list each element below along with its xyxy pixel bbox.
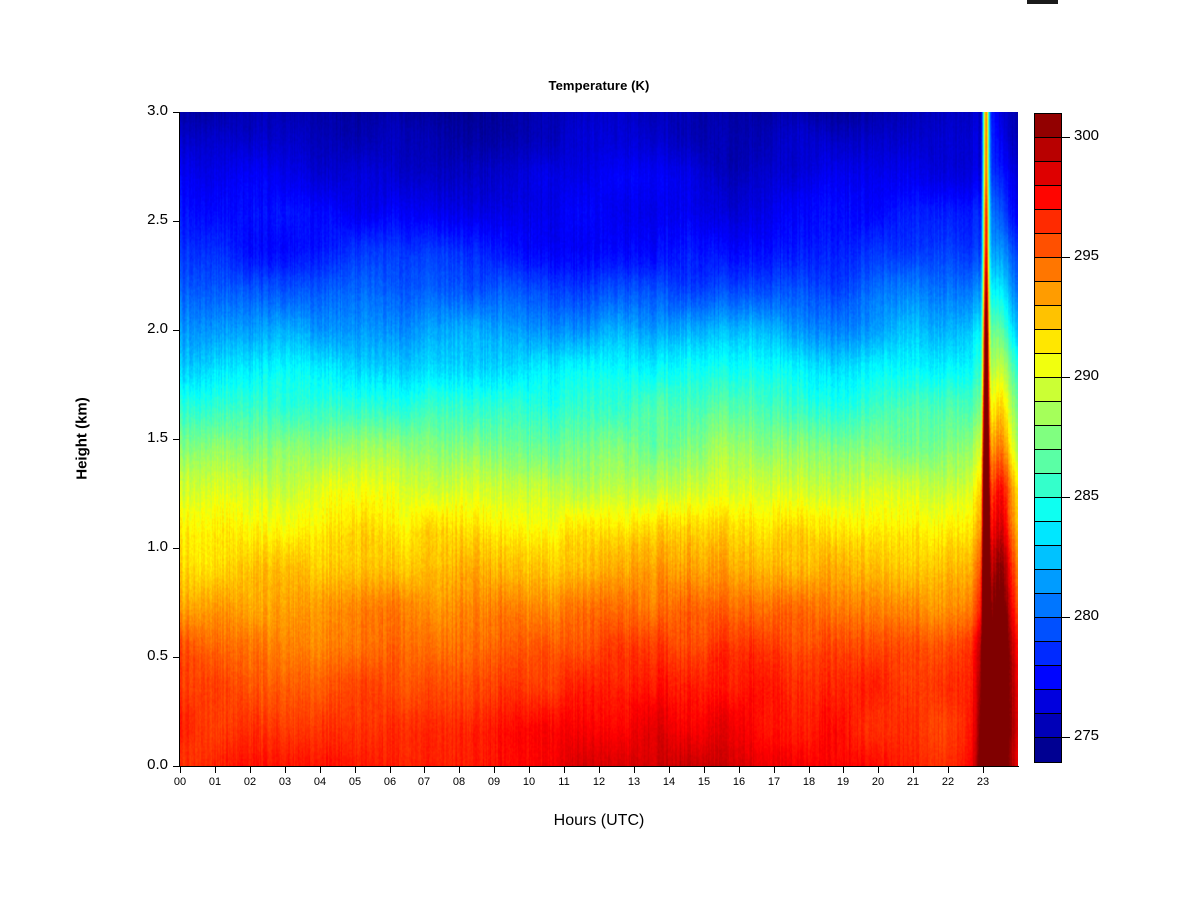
x-tick-label: 00	[160, 776, 200, 788]
colorbar-tick	[1062, 497, 1070, 498]
colorbar-tick	[1062, 137, 1070, 138]
x-tick	[704, 767, 705, 773]
x-tick	[355, 767, 356, 773]
y-tick-label: 1.0	[114, 538, 168, 555]
x-axis-title: Hours (UTC)	[180, 812, 1018, 830]
x-tick-label: 20	[858, 776, 898, 788]
chart-canvas: Temperature (K) 0.00.51.01.52.02.53.0 00…	[0, 0, 1200, 900]
x-tick-label: 09	[474, 776, 514, 788]
heatmap-canvas	[180, 112, 1018, 766]
y-tick	[173, 330, 179, 331]
y-tick	[173, 221, 179, 222]
x-tick-label: 22	[928, 776, 968, 788]
x-tick-label: 19	[823, 776, 863, 788]
colorbar-block	[1035, 138, 1061, 162]
colorbar-block	[1035, 450, 1061, 474]
x-tick	[739, 767, 740, 773]
x-tick	[599, 767, 600, 773]
x-tick-label: 23	[963, 776, 1003, 788]
colorbar-block	[1035, 258, 1061, 282]
y-tick	[173, 439, 179, 440]
y-tick-label: 1.5	[114, 429, 168, 446]
y-axis-title: Height (km)	[74, 339, 91, 539]
colorbar-tick	[1062, 737, 1070, 738]
x-tick-label: 07	[404, 776, 444, 788]
y-tick-label: 2.5	[114, 211, 168, 228]
x-tick	[320, 767, 321, 773]
colorbar-block	[1035, 570, 1061, 594]
top-bar-artifact	[1027, 0, 1058, 4]
x-tick	[494, 767, 495, 773]
y-axis-tick-labels: 0.00.51.01.52.02.53.0	[110, 0, 168, 900]
colorbar-block	[1035, 642, 1061, 666]
y-tick	[173, 112, 179, 113]
y-tick-label: 0.0	[114, 756, 168, 773]
y-tick-label: 3.0	[114, 102, 168, 119]
x-tick	[529, 767, 530, 773]
x-tick	[285, 767, 286, 773]
x-tick-label: 17	[754, 776, 794, 788]
x-tick-label: 02	[230, 776, 270, 788]
x-tick	[669, 767, 670, 773]
colorbar-tick-label: 300	[1074, 127, 1099, 144]
colorbar-block	[1035, 282, 1061, 306]
x-tick-label: 11	[544, 776, 584, 788]
x-tick-label: 21	[893, 776, 933, 788]
x-tick-label: 16	[719, 776, 759, 788]
y-tick-label: 2.0	[114, 320, 168, 337]
x-tick	[459, 767, 460, 773]
x-tick	[983, 767, 984, 773]
y-axis-line	[179, 112, 180, 767]
colorbar	[1034, 113, 1062, 763]
colorbar-block	[1035, 114, 1061, 138]
colorbar-tick-label: 285	[1074, 487, 1099, 504]
colorbar-block	[1035, 210, 1061, 234]
x-tick	[774, 767, 775, 773]
page-title: Temperature (K)	[180, 78, 1018, 93]
x-tick-label: 14	[649, 776, 689, 788]
x-tick-label: 05	[335, 776, 375, 788]
colorbar-block	[1035, 162, 1061, 186]
x-tick-label: 12	[579, 776, 619, 788]
colorbar-block	[1035, 618, 1061, 642]
colorbar-block	[1035, 306, 1061, 330]
colorbar-block	[1035, 426, 1061, 450]
colorbar-tick	[1062, 257, 1070, 258]
colorbar-block	[1035, 666, 1061, 690]
colorbar-block	[1035, 690, 1061, 714]
x-tick	[809, 767, 810, 773]
x-tick	[564, 767, 565, 773]
colorbar-block	[1035, 714, 1061, 738]
colorbar-tick	[1062, 617, 1070, 618]
x-tick-label: 13	[614, 776, 654, 788]
colorbar-block	[1035, 354, 1061, 378]
x-tick	[843, 767, 844, 773]
x-tick	[948, 767, 949, 773]
x-tick	[250, 767, 251, 773]
colorbar-block	[1035, 546, 1061, 570]
x-tick-label: 08	[439, 776, 479, 788]
colorbar-block	[1035, 234, 1061, 258]
x-tick-label: 01	[195, 776, 235, 788]
x-tick	[215, 767, 216, 773]
colorbar-block	[1035, 186, 1061, 210]
colorbar-tick-label: 280	[1074, 607, 1099, 624]
colorbar-block	[1035, 522, 1061, 546]
colorbar-block	[1035, 594, 1061, 618]
colorbar-block	[1035, 474, 1061, 498]
colorbar-block	[1035, 498, 1061, 522]
colorbar-tick-label: 290	[1074, 367, 1099, 384]
colorbar-block	[1035, 738, 1061, 762]
x-tick-label: 15	[684, 776, 724, 788]
x-tick	[634, 767, 635, 773]
x-tick	[913, 767, 914, 773]
x-tick-label: 03	[265, 776, 305, 788]
x-tick-label: 04	[300, 776, 340, 788]
x-tick	[390, 767, 391, 773]
colorbar-tick-label: 275	[1074, 727, 1099, 744]
x-tick	[878, 767, 879, 773]
colorbar-tick	[1062, 377, 1070, 378]
y-tick	[173, 548, 179, 549]
heatmap-plot-area	[180, 112, 1018, 766]
x-tick	[180, 767, 181, 773]
x-tick-label: 10	[509, 776, 549, 788]
colorbar-tick-label: 295	[1074, 247, 1099, 264]
y-tick-label: 0.5	[114, 647, 168, 664]
y-tick	[173, 657, 179, 658]
colorbar-block	[1035, 330, 1061, 354]
colorbar-block	[1035, 378, 1061, 402]
x-tick	[424, 767, 425, 773]
y-tick	[173, 766, 179, 767]
colorbar-block	[1035, 402, 1061, 426]
